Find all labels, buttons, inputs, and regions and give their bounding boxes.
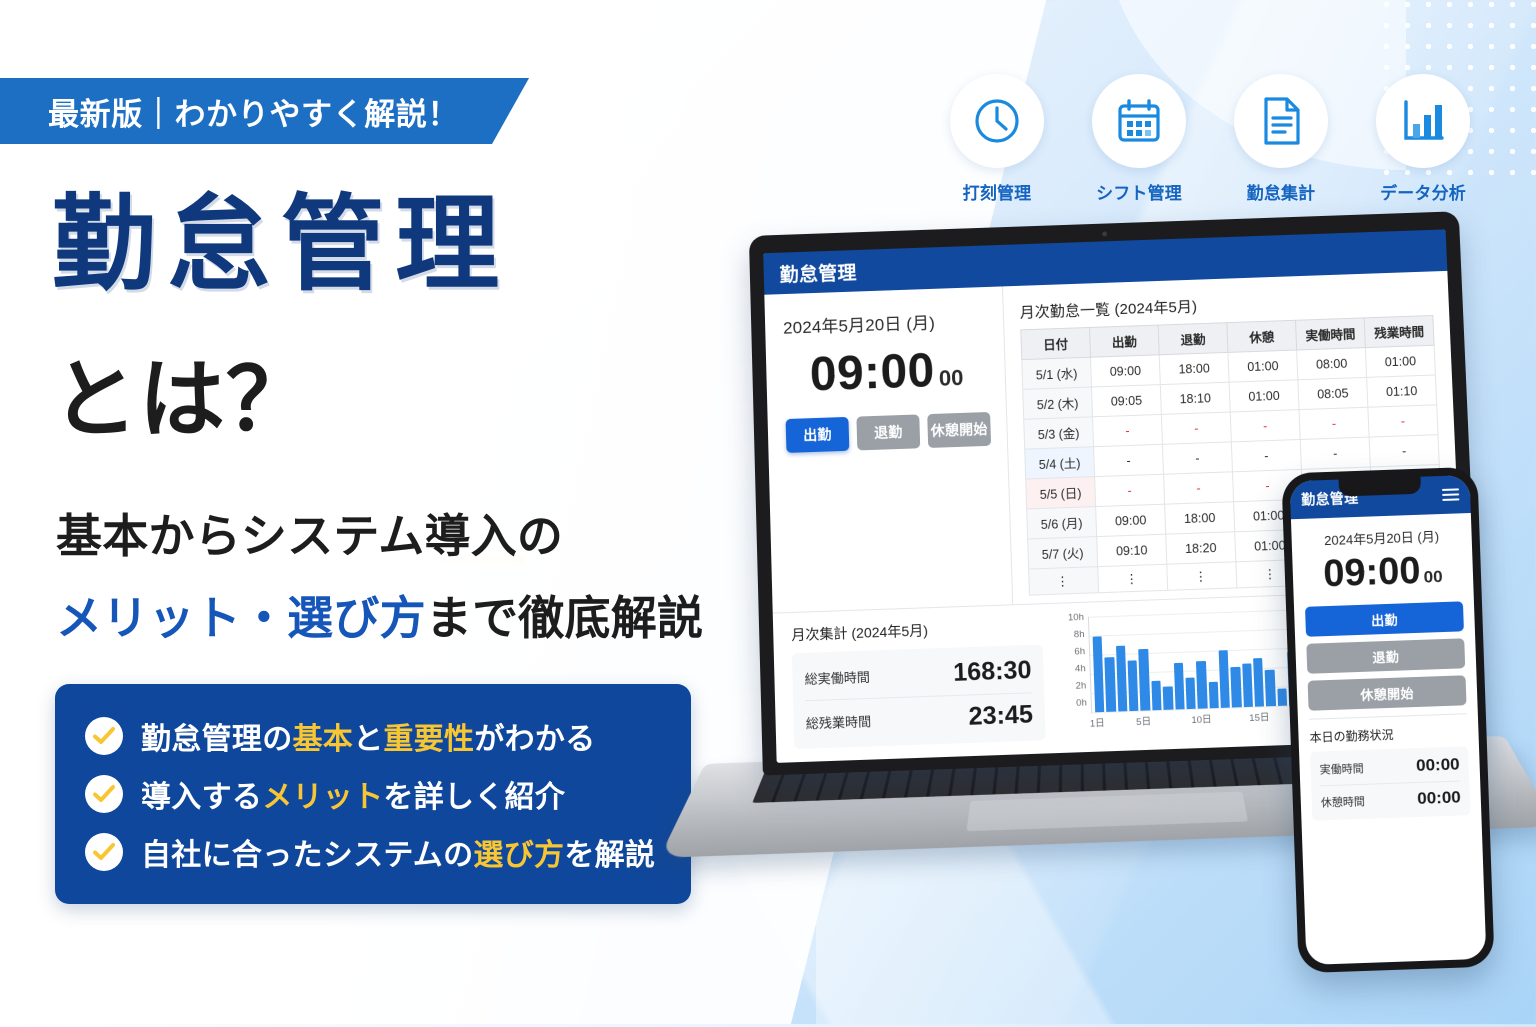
check-circle-icon [85,717,123,755]
phone-button-group: 出勤 退勤 休憩開始 [1305,601,1467,710]
punch-clock-hhmm: 09:00 [809,344,935,401]
table-cell: - [1300,437,1370,469]
chart-y-tick: 6h [1074,646,1085,657]
chart-bar [1277,688,1287,706]
feature-icon-wrap [950,74,1044,168]
punch-button-group: 出勤 退勤 休憩開始 [786,412,992,453]
clock-out-button[interactable]: 退勤 [856,414,920,450]
table-cell-date: 5/2 (木) [1023,387,1093,419]
summary-values: 月次集計 (2024年5月) 総実働時間 168:30 総残業時間 23:45 [791,616,1046,749]
chart-y-tick: 8h [1074,629,1085,640]
summary-caption: 月次集計 (2024年5月) [791,616,1042,645]
hero-lead-line2: メリット・選び方まで徹底解説 [56,582,703,648]
phone-break-start-button[interactable]: 休憩開始 [1308,675,1467,710]
chart-bar [1253,658,1264,707]
chart-y-tick: 10h [1068,612,1084,624]
table-column-header: 残業時間 [1364,315,1434,347]
check-circle-icon [85,833,123,871]
chart-bar [1128,660,1139,711]
chart-bar [1265,670,1276,707]
feature-icon-wrap [1092,74,1186,168]
feature-icon-row: 打刻管理 シフト管理 勤怠集計 [940,74,1480,204]
phone-clock-out-button[interactable]: 退勤 [1306,638,1465,673]
phone-row-label: 実働時間 [1319,760,1364,778]
table-column-header: 日付 [1021,327,1091,359]
hamburger-icon[interactable] [1442,485,1460,504]
table-cell: - [1093,414,1163,446]
table-cell-date: 5/7 (火) [1028,537,1098,569]
table-column-header: 出勤 [1089,325,1159,357]
benefits-checklist: 勤怠管理の基本と重要性がわかる 導入するメリットを詳しく紹介 自社に合ったシステ… [55,684,691,904]
feature-item-analytics[interactable]: データ分析 [1366,74,1480,204]
chart-y-axis: 10h8h6h4h2h0h [1058,612,1091,710]
check-circle-icon [85,775,123,813]
table-cell: - [1094,444,1164,476]
phone-row-value: 00:00 [1416,755,1460,777]
feature-label: 打刻管理 [940,179,1054,204]
break-start-button[interactable]: 休憩開始 [927,412,991,448]
phone-mockup: 勤怠管理 2024年5月20日 (月) 09:0000 出勤 退勤 休憩開始 本… [1281,467,1494,974]
punch-panel: 2024年5月20日 (月) 09:0000 出勤 退勤 休憩開始 [764,286,1013,612]
list-item: 自社に合ったシステムの選び方を解説 [85,830,661,874]
hero-ribbon: 最新版｜わかりやすく解説！ [0,78,529,144]
chart-bar [1093,636,1105,712]
phone-section-title: 本日の勤務状況 [1309,723,1467,746]
summary-label: 総実働時間 [804,667,870,688]
table-cell: ⋮ [1098,564,1168,592]
phone-date: 2024年5月20日 (月) [1302,525,1461,550]
table-cell: 01:10 [1367,375,1437,407]
summary-card: 総実働時間 168:30 総残業時間 23:45 [792,644,1046,749]
chart-bar [1163,687,1173,710]
feature-item-shift[interactable]: シフト管理 [1082,74,1196,204]
table-cell: 08:05 [1298,377,1368,409]
laptop-trackpad [966,792,1248,832]
chart-x-tick: 10日 [1191,711,1212,726]
list-item-label: 自社に合ったシステムの選び方を解説 [141,830,655,874]
table-column-header: 実働時間 [1295,318,1365,350]
page-title-question: とは？ [52,355,313,445]
phone-clock: 09:0000 [1303,548,1462,596]
phone-notch [1339,477,1422,497]
hero-ribbon-label: 最新版｜わかりやすく解説！ [48,89,459,134]
punch-clock-ss: 00 [939,365,964,391]
hero-lead-line1: 基本からシステム導入の [56,500,563,566]
chart-bar [1173,663,1184,709]
chart-y-tick: 2h [1075,680,1086,691]
table-cell: ⋮ [1167,562,1237,590]
table-cell: 18:00 [1159,352,1229,384]
table-cell: 01:00 [1228,350,1298,382]
chart-y-tick: 0h [1076,697,1087,708]
chart-bar [1151,680,1161,710]
feature-label: 勤怠集計 [1224,179,1338,204]
chart-bar [1242,664,1253,707]
table-cell: 18:10 [1160,382,1230,414]
phone-today-status: 本日の勤務状況 実働時間 00:00 休憩時間 00:00 [1309,713,1470,820]
chart-bar [1116,646,1128,711]
app-title: 勤怠管理 [779,257,857,286]
phone-screen: 勤怠管理 2024年5月20日 (月) 09:0000 出勤 退勤 休憩開始 本… [1290,475,1487,965]
phone-row-work-time: 実働時間 00:00 [1319,749,1460,787]
table-cell: - [1231,439,1301,471]
table-cell: - [1095,474,1165,506]
table-cell-date: 5/4 (土) [1025,447,1095,479]
phone-row-label: 休憩時間 [1321,793,1366,811]
chart-x-tick: 5日 [1136,713,1151,728]
table-cell-date: 5/5 (日) [1026,477,1096,509]
table-cell-date: 5/3 (金) [1024,417,1094,449]
punch-date: 2024年5月20日 (月) [783,307,988,339]
document-icon [1257,95,1305,147]
list-item-label: 勤怠管理の基本と重要性がわかる [141,714,596,758]
phone-clock-hhmm: 09:00 [1323,550,1422,595]
table-cell: 01:00 [1365,345,1435,377]
summary-row-total-work: 総実働時間 168:30 [804,649,1032,701]
phone-clock-in-button[interactable]: 出勤 [1305,601,1464,636]
chart-bar [1185,677,1196,709]
feature-item-aggregate[interactable]: 勤怠集計 [1224,74,1338,204]
chart-x-tick: 15日 [1249,709,1270,724]
hero-lead: 基本からシステム導入の メリット・選び方まで徹底解説 [56,500,703,648]
table-cell: - [1369,435,1439,467]
punch-clock: 09:0000 [784,341,990,403]
table-column-header: 退勤 [1158,323,1228,355]
summary-value: 23:45 [968,700,1033,732]
table-cell: - [1230,410,1300,442]
feature-label: シフト管理 [1082,179,1196,204]
chart-bar [1231,667,1242,708]
list-item: 導入するメリットを詳しく紹介 [85,772,661,816]
chart-bar [1105,657,1116,712]
phone-row-break-time: 休憩時間 00:00 [1320,782,1461,819]
table-cell: - [1164,472,1234,504]
chart-bar [1208,682,1218,708]
feature-label: データ分析 [1366,179,1480,204]
summary-value: 168:30 [953,656,1032,688]
table-cell-date: 5/6 (月) [1027,507,1097,539]
summary-label: 総残業時間 [806,711,872,732]
list-item: 勤怠管理の基本と重要性がわかる [85,714,661,758]
summary-row-total-overtime: 総残業時間 23:45 [805,693,1033,744]
clock-icon [971,95,1023,147]
chart-y-tick: 4h [1075,663,1086,674]
phone-status-card: 実働時間 00:00 休憩時間 00:00 [1310,746,1470,820]
table-cell: 09:00 [1090,355,1160,387]
chart-bar [1219,650,1231,708]
chart-bar [1139,649,1151,711]
table-cell-date: ⋮ [1029,567,1099,595]
table-cell: 09:10 [1097,534,1167,566]
table-cell: 18:00 [1165,502,1235,534]
table-cell: 09:05 [1092,385,1162,417]
table-column-header: 休憩 [1227,320,1297,352]
chart-x-tick: 1日 [1090,715,1105,730]
feature-icon-wrap [1376,74,1470,168]
webcam-icon [1102,231,1107,236]
table-cell: - [1162,442,1232,474]
hero-content: 最新版｜わかりやすく解説！ 勤怠管理 とは？ 基本からシステム導入の メリット・… [0,0,760,1024]
clock-in-button[interactable]: 出勤 [786,417,850,453]
phone-row-value: 00:00 [1417,788,1461,810]
table-cell-date: 5/1 (水) [1022,357,1092,389]
page-title: 勤怠管理 [52,190,510,300]
bar-chart-icon [1398,96,1448,146]
table-cell: - [1368,405,1438,437]
table-cell: 01:00 [1229,380,1299,412]
phone-body: 2024年5月20日 (月) 09:0000 出勤 退勤 休憩開始 本日の勤務状… [1291,513,1486,965]
table-cell: 18:20 [1166,532,1236,564]
table-cell: - [1161,412,1231,444]
chart-bar [1196,661,1207,708]
feature-icon-wrap [1234,74,1328,168]
table-cell: - [1299,407,1369,439]
feature-item-timestamp[interactable]: 打刻管理 [940,74,1054,204]
table-cell: 09:00 [1096,504,1166,536]
phone-clock-ss: 00 [1423,567,1443,587]
table-cell: 08:00 [1297,348,1367,380]
list-item-label: 導入するメリットを詳しく紹介 [141,772,565,816]
calendar-icon [1114,96,1164,146]
